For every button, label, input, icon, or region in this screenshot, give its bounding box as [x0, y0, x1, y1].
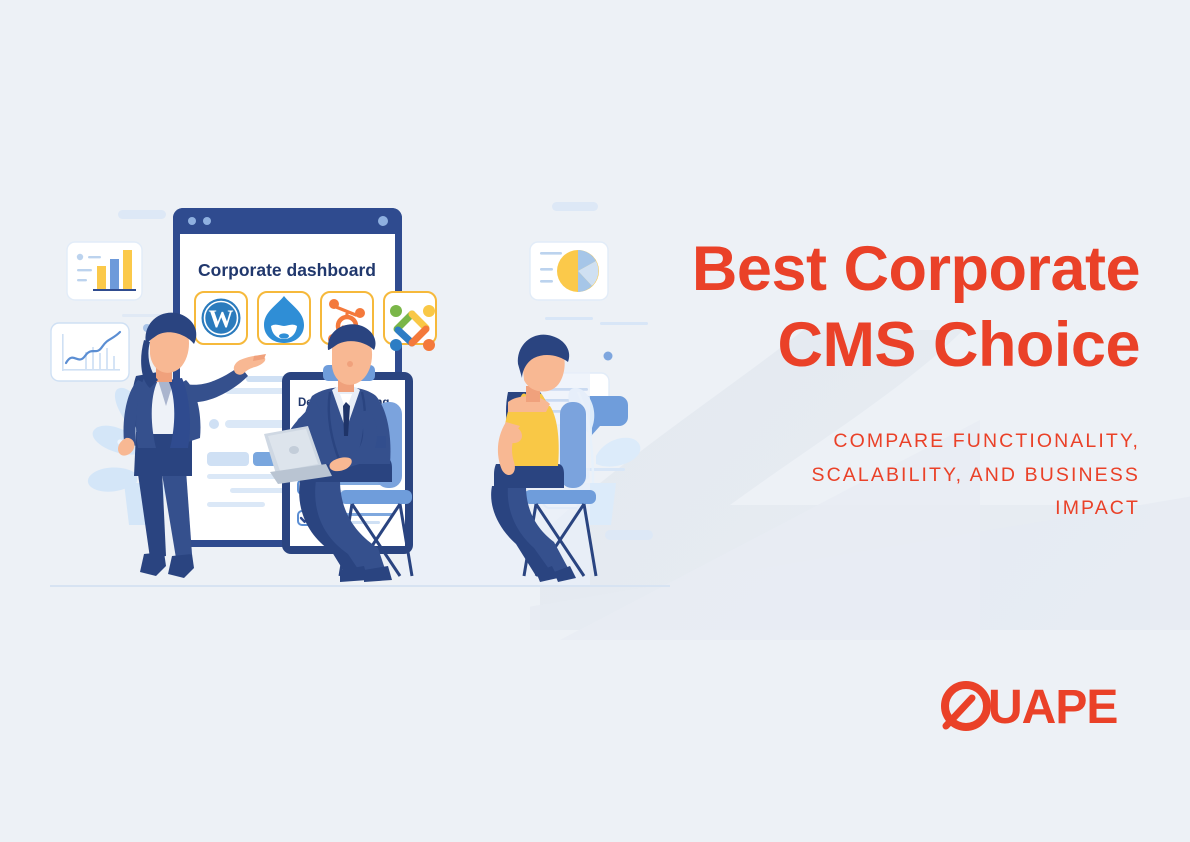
browser-dot-3 — [378, 216, 388, 226]
browser-title-text: Corporate dashboard — [198, 260, 376, 280]
floor-line — [50, 585, 670, 587]
subheadline-line-2: SCALABILITY, AND BUSINESS — [812, 464, 1141, 486]
cms-tile-drupal[interactable] — [258, 292, 310, 344]
svg-text:W: W — [209, 306, 234, 333]
poster-canvas: Corporate dashboard W — [0, 0, 1190, 842]
bar-chart-card — [67, 242, 142, 300]
headline-line-2: CMS Choice — [640, 308, 1140, 384]
bar-2 — [110, 259, 119, 289]
bar-3 — [123, 250, 132, 289]
headline-line-1: Best Corporate — [640, 232, 1140, 308]
subheadline-line-3: IMPACT — [1055, 497, 1140, 519]
cms-tile-joomla[interactable] — [384, 292, 436, 351]
pie-chart-card — [530, 242, 608, 300]
hero-text-column: Best Corporate CMS Choice COMPARE FUNCTI… — [640, 232, 1140, 526]
subheadline-line-1: COMPARE FUNCTIONALITY, — [833, 430, 1140, 452]
browser-dot-1 — [188, 217, 196, 225]
logo-wordmark: UAPE — [988, 681, 1117, 734]
illustration-cms-meeting: Corporate dashboard W — [40, 180, 680, 610]
decor-line-mid-right — [545, 317, 593, 320]
decor-pill-top-right — [552, 202, 598, 211]
decor-dot-b — [604, 352, 613, 361]
logo-q-mark — [945, 685, 987, 727]
brand-logo-quape[interactable]: UAPE — [938, 676, 1138, 736]
bar-1 — [97, 266, 106, 289]
decor-pill-bottom-right — [605, 530, 653, 540]
browser-dot-2 — [203, 217, 211, 225]
decor-pill-top-left — [118, 210, 166, 219]
cms-tile-wordpress[interactable]: W — [195, 292, 247, 344]
subheadline: COMPARE FUNCTIONALITY, SCALABILITY, AND … — [640, 425, 1140, 526]
pie-slices — [557, 250, 599, 292]
line-chart-card — [51, 323, 129, 381]
